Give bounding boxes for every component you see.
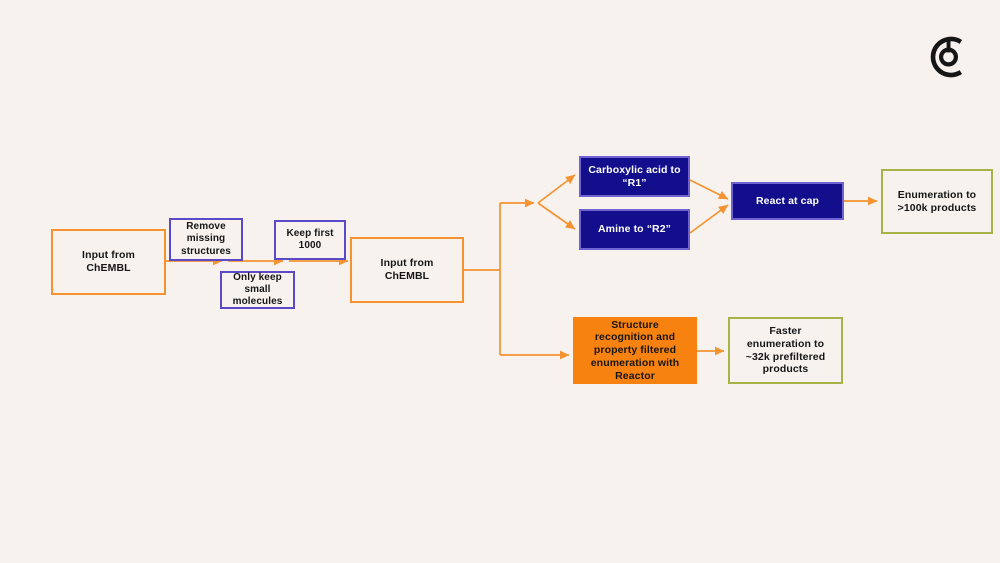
edge-fork-carboxylic — [538, 175, 575, 203]
node-only-keep-small-molecules[interactable]: Only keep small molecules — [220, 271, 295, 309]
node-structure-recognition-reactor[interactable]: Structure recognition and property filte… — [573, 317, 697, 384]
edge-fork-amine — [538, 203, 575, 229]
node-remove-missing-structures[interactable]: Remove missing structures — [169, 218, 243, 261]
node-enumeration-to-100k-products[interactable]: Enumeration to >100k products — [881, 169, 993, 234]
node-amine-to-r2[interactable]: Amine to “R2” — [579, 209, 690, 250]
node-input-from-chembl-1[interactable]: Input from ChEMBL — [51, 229, 166, 295]
node-input-from-chembl-2[interactable]: Input from ChEMBL — [350, 237, 464, 303]
edge-carboxylic-react — [690, 180, 728, 199]
node-faster-enumeration-32k-products[interactable]: Faster enumeration to ~32k prefiltered p… — [728, 317, 843, 384]
diagram-canvas: Input from ChEMBL Remove missing structu… — [0, 0, 1000, 563]
node-carboxylic-acid-to-r1[interactable]: Carboxylic acid to “R1” — [579, 156, 690, 197]
chemaxon-logo — [928, 34, 974, 80]
node-react-at-cap[interactable]: React at cap — [731, 182, 844, 220]
node-keep-first-1000[interactable]: Keep first 1000 — [274, 220, 346, 260]
edge-amine-react — [690, 205, 728, 233]
